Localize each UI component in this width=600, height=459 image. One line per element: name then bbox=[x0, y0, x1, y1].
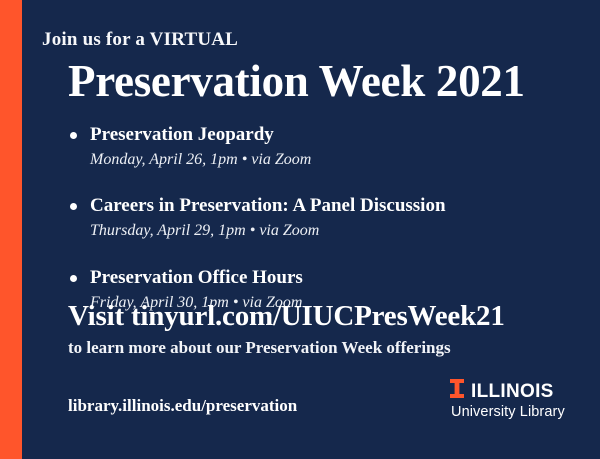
cta-url-text: Visit tinyurl.com/UIUCPresWeek21 bbox=[68, 300, 505, 333]
event-title: Preservation Office Hours bbox=[90, 267, 586, 290]
block-i-icon bbox=[450, 379, 464, 403]
illinois-university-library-logo: ILLINOIS University Library bbox=[450, 381, 580, 421]
preservation-week-poster: Join us for a VIRTUAL Preservation Week … bbox=[0, 0, 600, 459]
list-item: Preservation Jeopardy Monday, April 26, … bbox=[66, 124, 586, 170]
bullet-icon bbox=[70, 132, 77, 139]
event-meta: Monday, April 26, 1pm • via Zoom bbox=[90, 149, 586, 171]
bullet-icon bbox=[70, 203, 77, 210]
list-item: Careers in Preservation: A Panel Discuss… bbox=[66, 195, 586, 241]
event-meta: Thursday, April 29, 1pm • via Zoom bbox=[90, 220, 586, 242]
event-title: Preservation Jeopardy bbox=[90, 124, 586, 147]
logo-top-row: ILLINOIS bbox=[450, 381, 580, 401]
left-accent-bar bbox=[0, 0, 22, 459]
bullet-icon bbox=[70, 275, 77, 282]
event-title: Careers in Preservation: A Panel Discuss… bbox=[90, 195, 586, 218]
footer-site-url: library.illinois.edu/preservation bbox=[68, 396, 297, 416]
poster-content: Join us for a VIRTUAL Preservation Week … bbox=[22, 0, 600, 459]
kicker-text: Join us for a VIRTUAL bbox=[42, 29, 238, 51]
cta-subtitle: to learn more about our Preservation Wee… bbox=[68, 338, 451, 358]
logo-wordmark: ILLINOIS bbox=[471, 382, 554, 401]
logo-unit-name: University Library bbox=[451, 405, 580, 421]
page-title: Preservation Week 2021 bbox=[68, 58, 525, 105]
